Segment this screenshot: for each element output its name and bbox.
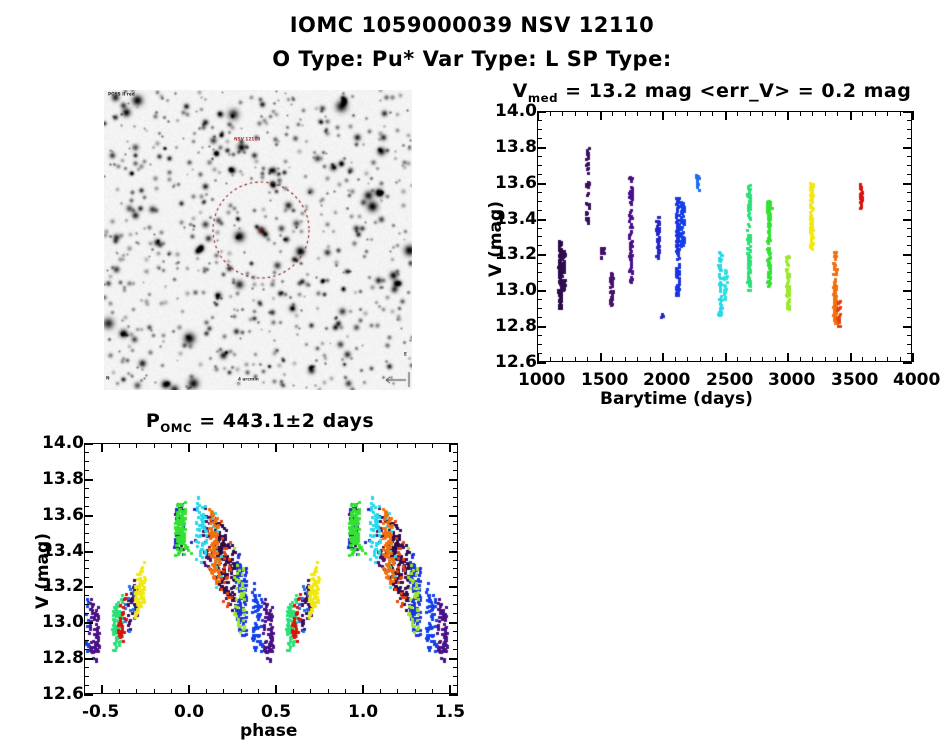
axis-tick (537, 120, 542, 121)
axis-tick (725, 111, 727, 120)
axis-tick (900, 111, 901, 116)
axis-tick-label: 3000 (768, 370, 815, 390)
axis-tick-label: 0.0 (174, 702, 204, 722)
axis-tick (900, 357, 901, 362)
axis-tick (762, 357, 763, 362)
axis-tick (775, 111, 776, 116)
axis-tick (775, 357, 776, 362)
period-prefix: P (146, 410, 160, 432)
axis-tick (84, 667, 89, 668)
axis-tick (907, 201, 912, 202)
axis-tick-label: 13.0 (485, 280, 537, 300)
axis-tick (903, 219, 912, 221)
axis-tick (380, 689, 381, 694)
axis-tick (453, 649, 458, 650)
axis-tick (575, 111, 576, 116)
axis-tick (241, 443, 242, 448)
axis-tick (328, 689, 329, 694)
axis-tick (449, 658, 458, 660)
axis-tick-label: 13.6 (485, 173, 537, 193)
axis-tick-label: 14.0 (32, 433, 84, 453)
axis-tick (662, 353, 664, 362)
axis-tick (453, 524, 458, 525)
axis-tick (449, 551, 458, 553)
axis-tick (362, 685, 364, 694)
axis-tick (84, 568, 89, 569)
axis-tick (206, 443, 207, 448)
axis-tick (537, 219, 546, 221)
axis-tick (903, 254, 912, 256)
axis-tick (84, 443, 93, 445)
axis-tick (537, 290, 546, 292)
axis-tick (612, 111, 613, 116)
axis-tick (903, 147, 912, 149)
axis-tick (154, 689, 155, 694)
axis-tick (687, 357, 688, 362)
vmed-title: Vmed = 13.2 mag <err_V> = 0.2 mag (480, 80, 944, 105)
axis-tick-label: 1.5 (435, 702, 465, 722)
axis-tick (84, 622, 93, 624)
axis-tick (537, 210, 542, 211)
axis-tick (562, 111, 563, 116)
axis-tick (345, 689, 346, 694)
axis-tick (453, 577, 458, 578)
axis-tick (84, 613, 89, 614)
axis-tick (154, 443, 155, 448)
axis-tick (453, 470, 458, 471)
axis-tick-label: 1500 (581, 370, 628, 390)
axis-tick (537, 344, 542, 345)
axis-tick (675, 357, 676, 362)
axis-tick (762, 111, 763, 116)
object-type-line: O Type: Pu* Var Type: L SP Type: (0, 47, 944, 71)
axis-tick-label: 1000 (518, 370, 565, 390)
axis-tick (537, 272, 542, 273)
lightcurve-time-xlabel: Barytime (days) (600, 389, 753, 409)
axis-tick (912, 353, 914, 362)
axis-tick (453, 685, 458, 686)
axis-tick (84, 577, 89, 578)
axis-tick (907, 156, 912, 157)
axis-tick-label: 0.5 (261, 702, 291, 722)
axis-tick (903, 362, 912, 364)
axis-tick (537, 281, 542, 282)
axis-tick (662, 111, 664, 120)
axis-tick (84, 461, 89, 462)
axis-tick (907, 317, 912, 318)
axis-tick (537, 299, 542, 300)
axis-tick (537, 165, 542, 166)
axis-tick (812, 111, 813, 116)
axis-tick (453, 506, 458, 507)
axis-tick (907, 210, 912, 211)
axis-tick (850, 111, 852, 120)
axis-tick (84, 497, 89, 498)
axis-tick (136, 689, 137, 694)
axis-tick (453, 676, 458, 677)
axis-tick (84, 604, 89, 605)
vmed-prefix: V (513, 80, 528, 102)
axis-tick (84, 479, 93, 481)
axis-tick (907, 236, 912, 237)
axis-tick (912, 111, 914, 120)
axis-tick-label: 13.8 (485, 137, 537, 157)
axis-tick (449, 443, 458, 445)
axis-tick (907, 165, 912, 166)
axis-tick (907, 281, 912, 282)
axis-tick (84, 694, 93, 696)
period-text: = 443.1±2 days (192, 410, 374, 432)
axis-tick (537, 111, 546, 113)
lightcurve-time-plot (537, 111, 912, 362)
axis-tick (188, 443, 190, 452)
axis-tick (903, 326, 912, 328)
axis-tick (750, 357, 751, 362)
axis-tick (837, 111, 838, 116)
axis-tick (907, 120, 912, 121)
axis-tick (136, 443, 137, 448)
axis-tick (84, 452, 89, 453)
axis-tick (84, 551, 93, 553)
axis-tick (862, 111, 863, 116)
axis-tick (907, 174, 912, 175)
axis-tick (537, 138, 542, 139)
axis-tick (862, 357, 863, 362)
axis-tick (612, 357, 613, 362)
axis-tick (537, 201, 542, 202)
axis-tick (903, 183, 912, 185)
axis-tick (223, 689, 224, 694)
axis-tick (432, 443, 433, 448)
axis-tick (223, 443, 224, 448)
axis-tick (875, 357, 876, 362)
axis-tick (537, 174, 542, 175)
axis-tick-label: -0.5 (82, 702, 119, 722)
axis-tick (537, 308, 542, 309)
axis-tick (907, 263, 912, 264)
axis-tick (84, 586, 93, 588)
axis-tick (275, 685, 277, 694)
axis-tick (101, 685, 103, 694)
axis-tick (537, 254, 546, 256)
axis-tick (84, 515, 93, 517)
axis-tick (800, 357, 801, 362)
sky-object-label: NSV 12110 (234, 137, 260, 142)
axis-tick (537, 317, 542, 318)
axis-tick (171, 689, 172, 694)
axis-tick-label: 13.8 (32, 469, 84, 489)
axis-tick (537, 353, 539, 362)
axis-tick (84, 595, 89, 596)
axis-tick (537, 326, 546, 328)
axis-tick-label: 2000 (643, 370, 690, 390)
lightcurve-time-ylabel: V (mag) (486, 201, 506, 277)
axis-tick (903, 290, 912, 292)
axis-tick-label: 14.0 (485, 101, 537, 121)
axis-tick (453, 497, 458, 498)
axis-tick (787, 353, 789, 362)
axis-tick (812, 357, 813, 362)
axis-tick (415, 443, 416, 448)
axis-tick (453, 560, 458, 561)
axis-tick (310, 689, 311, 694)
axis-tick (600, 111, 602, 120)
axis-tick (449, 586, 458, 588)
axis-tick (737, 111, 738, 116)
lightcurve-phase-ylabel: V (mag) (33, 533, 53, 609)
axis-tick (397, 689, 398, 694)
axis-tick (537, 353, 542, 354)
axis-tick (907, 335, 912, 336)
axis-tick (625, 357, 626, 362)
axis-tick (712, 111, 713, 116)
axis-tick (907, 138, 912, 139)
axis-tick-label: 4000 (893, 370, 940, 390)
axis-tick (637, 357, 638, 362)
axis-tick (84, 640, 89, 641)
axis-tick (637, 111, 638, 116)
axis-tick (293, 443, 294, 448)
axis-tick (537, 192, 542, 193)
axis-tick (453, 604, 458, 605)
axis-tick (825, 111, 826, 116)
axis-tick-label: 1.0 (348, 702, 378, 722)
lightcurve-phase-plot (84, 443, 458, 694)
axis-tick (449, 479, 458, 481)
axis-tick (84, 533, 89, 534)
axis-tick (453, 640, 458, 641)
axis-tick (453, 461, 458, 462)
axis-tick (101, 443, 103, 452)
axis-tick-label: 3500 (831, 370, 878, 390)
axis-tick (700, 357, 701, 362)
axis-tick (84, 542, 89, 543)
axis-tick (449, 694, 458, 696)
axis-tick (453, 667, 458, 668)
axis-tick (587, 357, 588, 362)
axis-tick (903, 111, 912, 113)
sky-survey-label: POSS II red (108, 92, 135, 97)
axis-tick (84, 658, 93, 660)
axis-tick (825, 357, 826, 362)
axis-tick (700, 111, 701, 116)
axis-tick-label: 12.6 (485, 352, 537, 372)
axis-tick (800, 111, 801, 116)
axis-tick (887, 357, 888, 362)
sky-scale-label: 4 arcmin (238, 377, 259, 382)
axis-tick (587, 111, 588, 116)
axis-tick (380, 443, 381, 448)
axis-tick (907, 129, 912, 130)
axis-tick (875, 111, 876, 116)
axis-tick-label: 13.6 (32, 505, 84, 525)
axis-tick (453, 542, 458, 543)
axis-tick (850, 353, 852, 362)
axis-tick (449, 685, 451, 694)
sky-image-panel: POSS II red NSV 12110 4 arcmin N E (104, 90, 412, 390)
lightcurve-time-canvas (538, 112, 910, 360)
vmed-text: = 13.2 mag <err_V> = 0.2 mag (558, 80, 911, 102)
axis-tick (84, 631, 89, 632)
axis-tick (907, 192, 912, 193)
axis-tick-label: 12.8 (32, 648, 84, 668)
axis-tick (84, 488, 89, 489)
axis-tick (537, 236, 542, 237)
axis-tick (537, 245, 542, 246)
sky-north-label: N (106, 376, 110, 381)
axis-tick (537, 147, 546, 149)
axis-tick (188, 685, 190, 694)
axis-tick (712, 357, 713, 362)
axis-tick (453, 568, 458, 569)
axis-tick (907, 299, 912, 300)
axis-tick (84, 524, 89, 525)
axis-tick (345, 443, 346, 448)
axis-tick (537, 183, 546, 185)
lightcurve-phase-canvas (85, 444, 456, 692)
axis-tick-label: 2500 (706, 370, 753, 390)
axis-tick (625, 111, 626, 116)
axis-tick (907, 272, 912, 273)
axis-tick (453, 452, 458, 453)
axis-tick-label: 12.8 (485, 316, 537, 336)
axis-tick (206, 689, 207, 694)
axis-tick (397, 443, 398, 448)
axis-tick (537, 129, 542, 130)
axis-tick (432, 689, 433, 694)
lightcurve-phase-xlabel: phase (240, 721, 297, 741)
axis-tick (119, 689, 120, 694)
axis-tick (537, 228, 542, 229)
axis-tick (537, 335, 542, 336)
period-title: POMC = 443.1±2 days (30, 410, 490, 435)
axis-tick (837, 357, 838, 362)
axis-tick (84, 685, 89, 686)
axis-tick (650, 357, 651, 362)
axis-tick (293, 689, 294, 694)
sky-east-label: E (404, 352, 407, 357)
page-title: IOMC 1059000039 NSV 12110 (0, 13, 944, 37)
axis-tick (907, 353, 912, 354)
axis-tick (258, 443, 259, 448)
axis-tick (453, 631, 458, 632)
axis-tick (787, 111, 789, 120)
axis-tick (449, 622, 458, 624)
axis-tick (310, 443, 311, 448)
axis-tick (119, 443, 120, 448)
axis-tick-label: 13.0 (32, 612, 84, 632)
axis-tick (687, 111, 688, 116)
axis-tick (241, 689, 242, 694)
axis-tick (453, 533, 458, 534)
axis-tick (328, 443, 329, 448)
axis-tick (887, 111, 888, 116)
period-subscript: OMC (160, 421, 192, 435)
axis-tick (258, 689, 259, 694)
axis-tick (907, 245, 912, 246)
axis-tick (575, 357, 576, 362)
axis-tick (907, 344, 912, 345)
axis-tick (171, 443, 172, 448)
axis-tick (750, 111, 751, 116)
axis-tick (537, 362, 546, 364)
axis-tick (415, 689, 416, 694)
sky-field-image (104, 90, 412, 390)
axis-tick (453, 488, 458, 489)
axis-tick (453, 613, 458, 614)
axis-tick (562, 357, 563, 362)
axis-tick (537, 263, 542, 264)
axis-tick (537, 156, 542, 157)
axis-tick (650, 111, 651, 116)
axis-tick (84, 676, 89, 677)
axis-tick (362, 443, 364, 452)
axis-tick (907, 228, 912, 229)
axis-tick (737, 357, 738, 362)
axis-tick (675, 111, 676, 116)
axis-tick (550, 357, 551, 362)
axis-tick (449, 515, 458, 517)
axis-tick (725, 353, 727, 362)
axis-tick (84, 470, 89, 471)
axis-tick (275, 443, 277, 452)
axis-tick (84, 506, 89, 507)
axis-tick (84, 560, 89, 561)
axis-tick (453, 595, 458, 596)
axis-tick (907, 308, 912, 309)
axis-tick (550, 111, 551, 116)
axis-tick (84, 649, 89, 650)
axis-tick-label: 12.6 (32, 684, 84, 704)
axis-tick (600, 353, 602, 362)
